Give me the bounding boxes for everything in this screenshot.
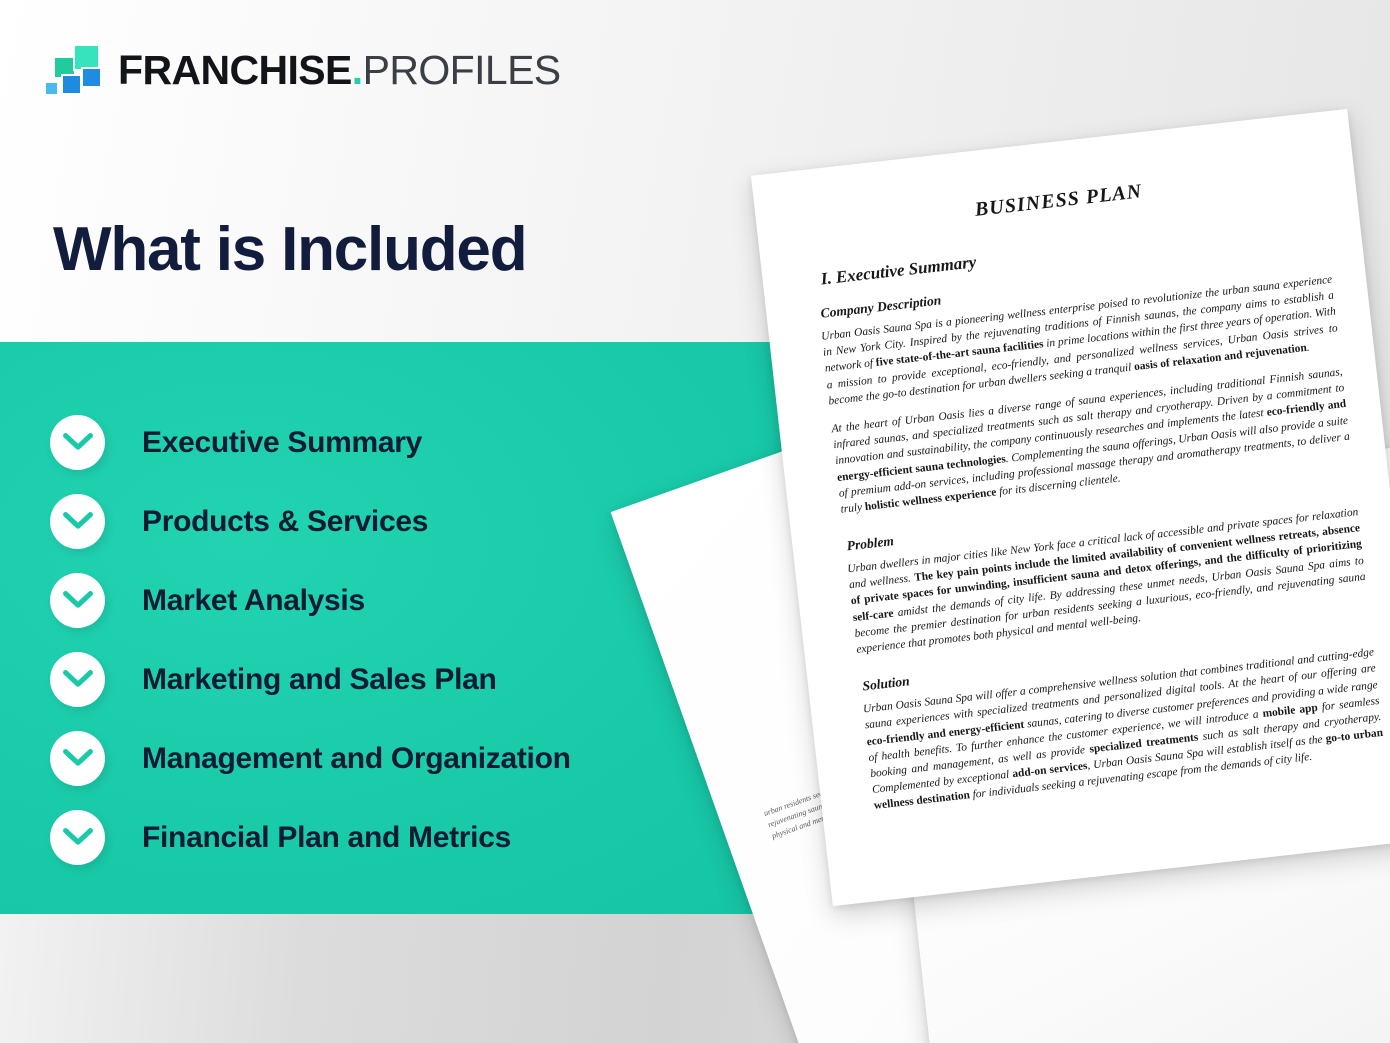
included-list: Executive Summary Products & Services Ma… [50, 403, 571, 877]
list-item[interactable]: Products & Services [50, 482, 571, 561]
chevron-down-icon[interactable] [50, 573, 105, 628]
list-item[interactable]: Marketing and Sales Plan [50, 640, 571, 719]
list-item-label: Products & Services [142, 505, 428, 539]
list-item-label: Marketing and Sales Plan [142, 663, 497, 697]
brand-word-bold: FRANCHISE [118, 47, 352, 93]
p-frag: . [1306, 341, 1310, 353]
document-sheet: BUSINESS PLAN I. Executive Summary Compa… [751, 109, 1390, 906]
list-item-label: Market Analysis [142, 584, 365, 618]
chevron-down-icon[interactable] [50, 494, 105, 549]
chevron-down-icon[interactable] [50, 415, 105, 470]
logo-mark-squares-icon [44, 44, 100, 96]
list-item-label: Executive Summary [142, 426, 422, 460]
logo-square-blue [61, 74, 82, 95]
brand-wordmark: FRANCHISE.PROFILES [118, 50, 561, 91]
brand-logo[interactable]: FRANCHISE.PROFILES [44, 44, 561, 96]
list-item-label: Financial Plan and Metrics [142, 821, 511, 855]
logo-square-blue-2 [81, 67, 102, 88]
logo-square-lightblue [44, 81, 59, 96]
list-item[interactable]: Management and Organization [50, 719, 571, 798]
page-title: What is Included [53, 217, 526, 282]
chevron-down-icon[interactable] [50, 652, 105, 707]
p-strong: mobile app [1262, 702, 1318, 720]
brand-word-dot: . [352, 47, 363, 93]
list-item-label: Management and Organization [142, 742, 571, 776]
chevron-down-icon[interactable] [50, 731, 105, 786]
list-item[interactable]: Financial Plan and Metrics [50, 798, 571, 877]
list-item[interactable]: Market Analysis [50, 561, 571, 640]
document-page-front[interactable]: BUSINESS PLAN I. Executive Summary Compa… [751, 109, 1390, 906]
list-item[interactable]: Executive Summary [50, 403, 571, 482]
brand-word-light: PROFILES [363, 47, 561, 93]
chevron-down-icon[interactable] [50, 810, 105, 865]
